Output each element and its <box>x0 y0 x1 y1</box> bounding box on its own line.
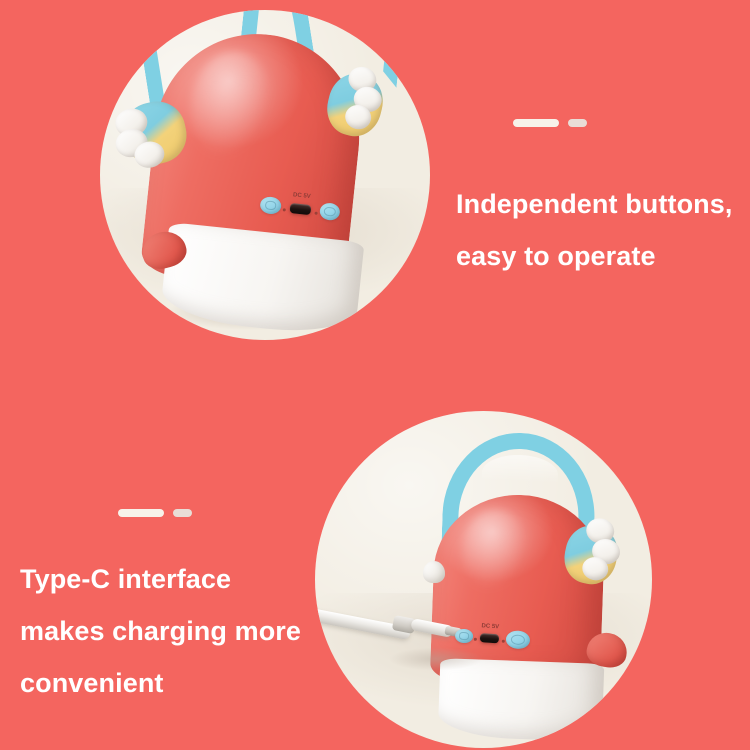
dash-accent-top <box>513 119 587 127</box>
dash-short <box>568 119 587 127</box>
product-scene-bottom: DC 5V <box>315 411 652 748</box>
port-dot <box>314 211 317 214</box>
usb-c-port <box>480 633 500 643</box>
dash-long <box>118 509 164 517</box>
power-button-right[interactable] <box>505 630 530 650</box>
power-button-right[interactable] <box>319 202 341 221</box>
product-scene-top: DC 5V <box>100 10 430 340</box>
button-glyph-icon <box>264 200 277 211</box>
port-dot <box>474 637 477 640</box>
cable-shadow <box>371 643 501 675</box>
strap-clip-left <box>118 96 192 170</box>
body-gloss <box>460 508 531 593</box>
product-feature-banner: DC 5V Independent buttons, easy to opera… <box>0 0 750 750</box>
port-dot <box>502 639 505 642</box>
charging-port-group: DC 5V <box>480 633 500 643</box>
button-glyph-icon <box>511 634 525 645</box>
button-glyph-icon <box>324 206 336 217</box>
body-gloss <box>185 47 278 165</box>
mode-button-left[interactable] <box>259 196 282 215</box>
photo-buttons-closeup: DC 5V <box>100 10 430 340</box>
feature-line: easy to operate <box>456 230 732 282</box>
photo-charging-closeup: DC 5V <box>315 411 652 748</box>
button-glyph-icon <box>459 632 470 641</box>
side-nub-white <box>423 561 445 583</box>
port-label: DC 5V <box>481 623 499 630</box>
feature-line: makes charging more <box>20 605 301 657</box>
dash-short <box>173 509 192 517</box>
port-dot <box>283 208 286 211</box>
usb-c-port <box>290 202 312 214</box>
feature-text-type-c-interface: Type-C interface makes charging more con… <box>20 553 301 709</box>
mode-button-left[interactable] <box>455 628 474 643</box>
feature-line: Independent buttons, <box>456 178 732 230</box>
feature-text-independent-buttons: Independent buttons, easy to operate <box>456 178 732 282</box>
feature-line: Type-C interface <box>20 553 301 605</box>
charging-port-group: DC 5V <box>290 202 312 214</box>
dash-long <box>513 119 559 127</box>
dash-accent-bottom <box>118 509 192 517</box>
feature-line: convenient <box>20 657 301 709</box>
